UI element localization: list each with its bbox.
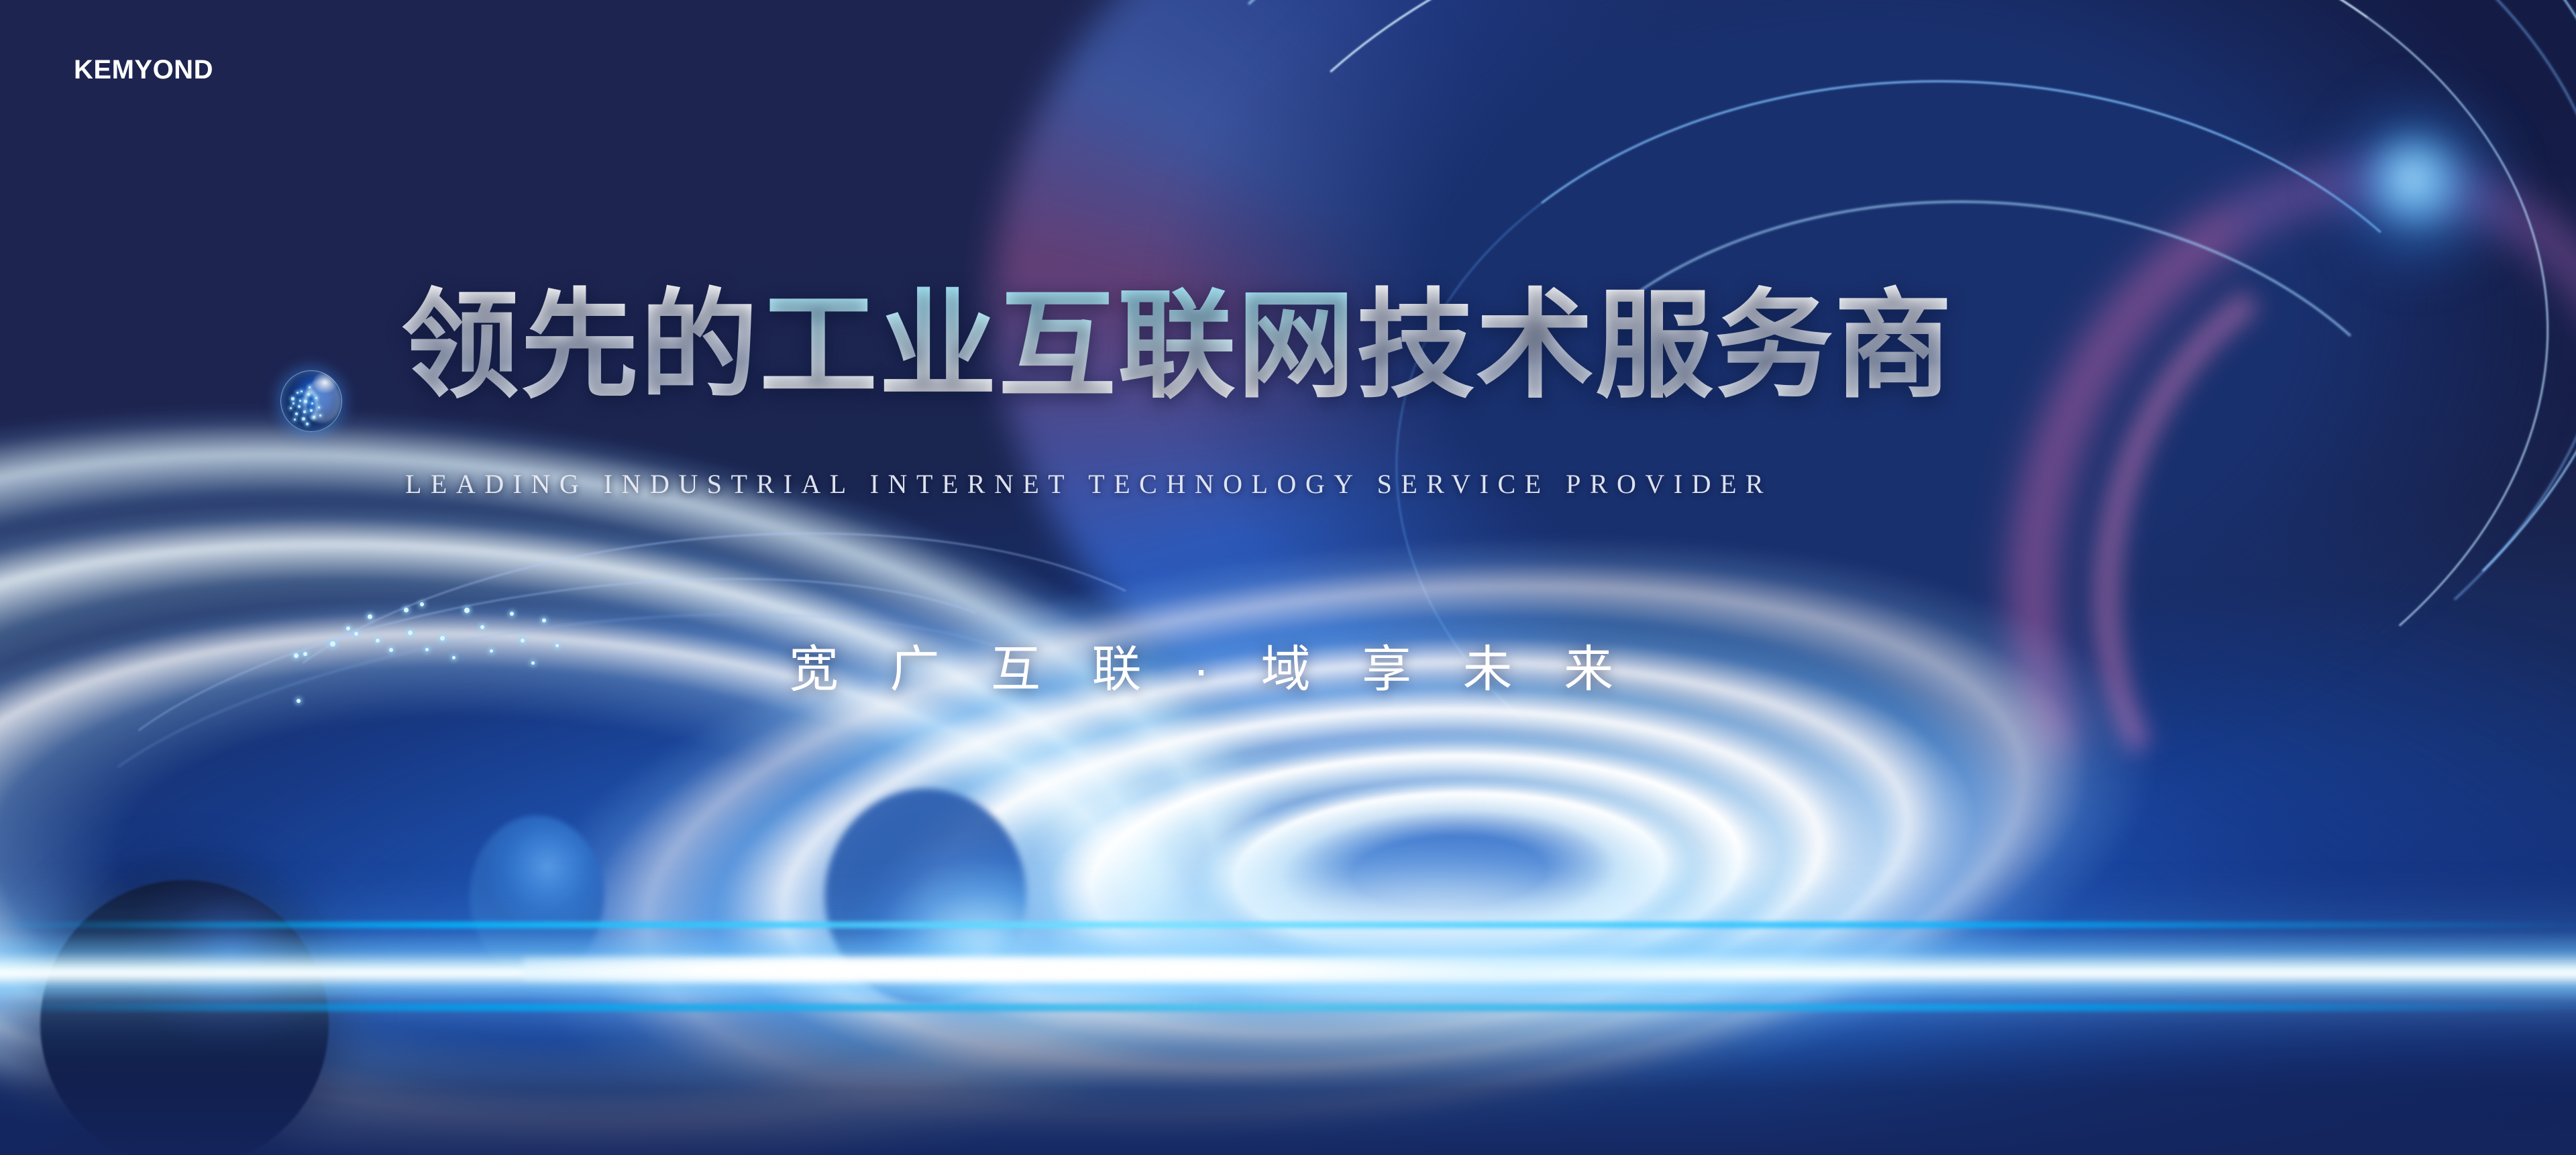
light-beam-hotspot bbox=[523, 958, 1771, 981]
light-particle bbox=[376, 639, 380, 643]
light-particle bbox=[330, 641, 335, 647]
brand-logo[interactable]: KEMYOND bbox=[74, 56, 213, 83]
glass-sphere-rim bbox=[280, 370, 342, 432]
light-particle bbox=[510, 612, 514, 616]
light-particle bbox=[521, 639, 525, 643]
light-particle bbox=[346, 626, 350, 630]
page-title: 领先的工业互联网技术服务商 bbox=[401, 287, 1953, 405]
light-particle bbox=[389, 648, 393, 652]
headline-segment-cyan: 工业互联网 bbox=[759, 280, 1356, 412]
light-particle bbox=[297, 699, 301, 703]
light-particle bbox=[480, 625, 484, 629]
light-particle bbox=[368, 614, 372, 619]
headline-english-subtitle: LEADING INDUSTRIAL INTERNET TECHNOLOGY S… bbox=[405, 468, 1772, 500]
light-particle bbox=[531, 661, 535, 665]
light-particle bbox=[542, 618, 546, 622]
light-particle bbox=[425, 648, 429, 651]
brand-slogan: 宽 广 互 联 · 域 享 未 来 bbox=[789, 629, 1632, 701]
light-particle bbox=[452, 656, 455, 659]
headline-segment-white-suffix: 技术服务商 bbox=[1356, 280, 1953, 412]
light-particle bbox=[490, 649, 493, 653]
light-particle bbox=[354, 632, 358, 636]
light-particle bbox=[440, 636, 445, 641]
light-particle bbox=[294, 653, 299, 658]
light-particle bbox=[408, 630, 413, 635]
particle-field bbox=[288, 574, 570, 702]
headline-segment-white-prefix: 领先的 bbox=[401, 280, 759, 412]
banner-canvas: KEMYOND 领先的工业互联网技术服务商 LEADING INDUSTRIAL… bbox=[0, 0, 2576, 1155]
light-particle bbox=[420, 602, 424, 606]
bottom-shadow-gradient bbox=[0, 993, 2576, 1155]
light-particle bbox=[464, 608, 470, 613]
light-particle bbox=[303, 652, 307, 656]
light-particle bbox=[555, 644, 559, 647]
glowing-orb-core bbox=[2361, 127, 2462, 228]
light-beam-cyan-upper bbox=[0, 922, 2576, 928]
light-particle bbox=[404, 608, 409, 612]
